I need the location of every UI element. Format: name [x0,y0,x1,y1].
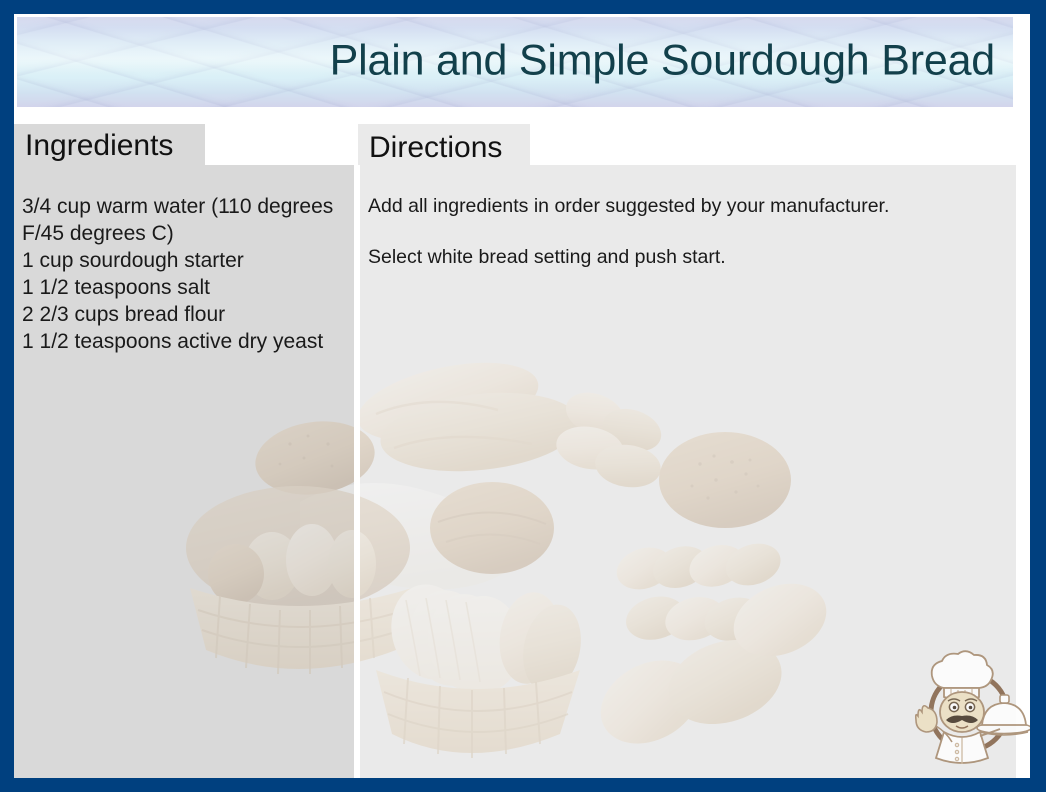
page-title: Plain and Simple Sourdough Bread [330,39,995,84]
list-item: 1 1/2 teaspoons salt [22,274,344,301]
panel-divider [354,165,360,778]
slide-border-bottom [0,778,1046,792]
list-item: 1 1/2 teaspoons active dry yeast [22,328,344,355]
list-item: 2 2/3 cups bread flour [22,301,344,328]
list-item: 3/4 cup warm water (110 degrees F/45 deg… [22,193,344,247]
directions-heading-label: Directions [369,133,502,163]
list-item: 1 cup sourdough starter [22,247,344,274]
ingredients-list: 3/4 cup warm water (110 degrees F/45 deg… [22,193,344,355]
slide-border-right [1030,0,1046,792]
slide-border-top [0,0,1046,14]
ingredients-heading-tab: Ingredients [14,124,205,168]
directions-steps: Add all ingredients in order suggested b… [368,193,1004,270]
ingredients-heading-label: Ingredients [25,131,173,161]
directions-heading-tab: Directions [358,124,530,172]
recipe-slide: Plain and Simple Sourdough Bread [0,0,1046,792]
chef-mascot-logo [908,646,1030,768]
title-banner: Plain and Simple Sourdough Bread [17,17,1013,107]
list-item: Add all ingredients in order suggested b… [368,193,1004,219]
slide-border-left [0,0,14,792]
list-item: Select white bread setting and push star… [368,244,1004,270]
